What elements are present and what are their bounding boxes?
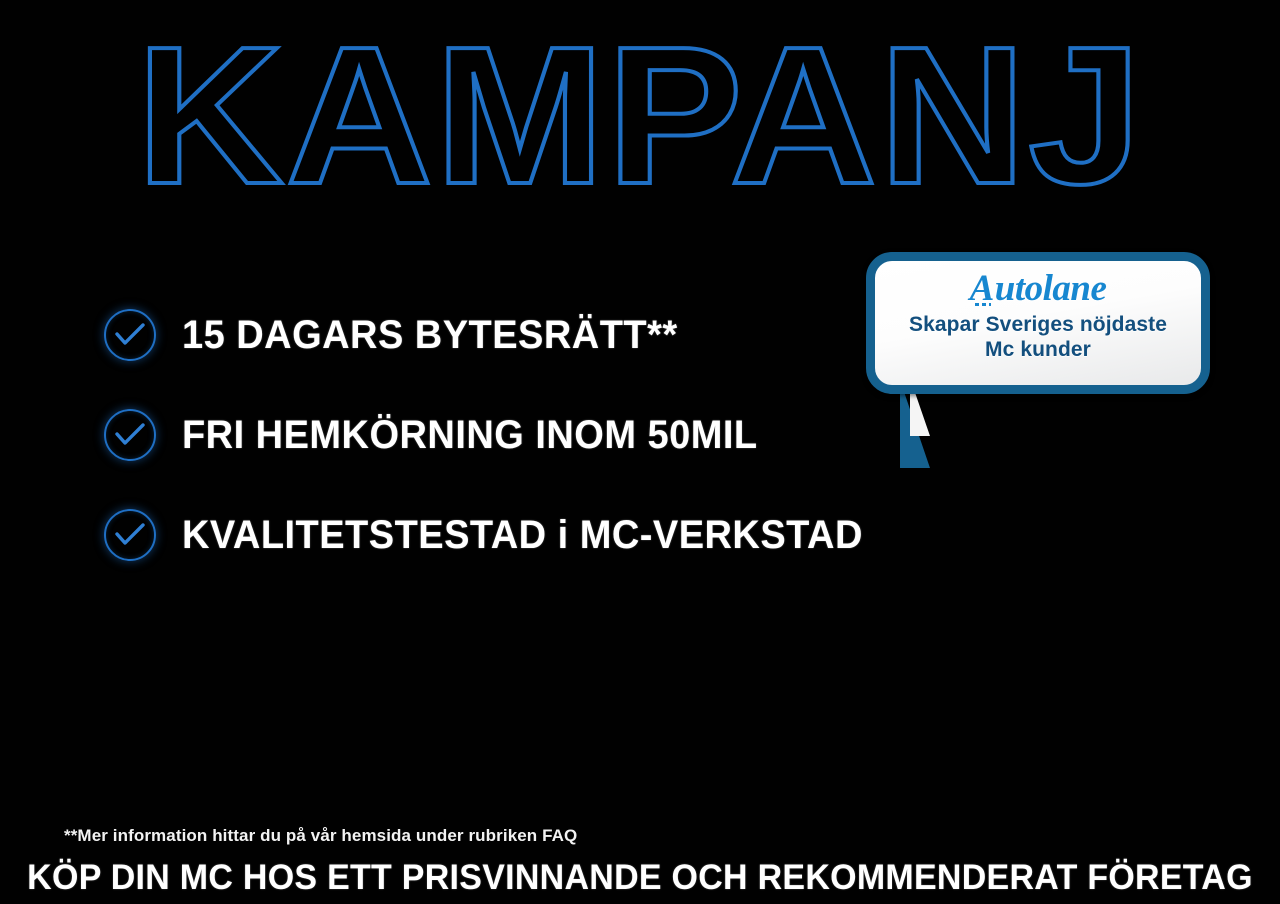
check-circle-icon bbox=[104, 509, 156, 561]
benefit-label: 15 DAGARS BYTESRÄTT** bbox=[182, 313, 678, 357]
check-circle-icon bbox=[104, 309, 156, 361]
autolane-speech-bubble: Autolane Skapar Sveriges nöjdaste Mc kun… bbox=[866, 252, 1210, 472]
benefit-label: KVALITETSTESTAD i MC-VERKSTAD bbox=[182, 513, 863, 557]
page-title: KAMPANJ bbox=[0, 18, 1280, 214]
list-item: FRI HEMKÖRNING INOM 50MIL bbox=[104, 385, 934, 485]
campaign-poster: KAMPANJ 15 DAGARS BYTESRÄTT** FRI HEMKÖR… bbox=[0, 0, 1280, 904]
autolane-tagline: Skapar Sveriges nöjdaste Mc kunder bbox=[909, 312, 1167, 362]
list-item: KVALITETSTESTAD i MC-VERKSTAD bbox=[104, 485, 934, 585]
tagline-line-1: Skapar Sveriges nöjdaste bbox=[909, 312, 1167, 337]
footnote-text: **Mer information hittar du på vår hemsi… bbox=[64, 826, 577, 846]
tagline-line-2: Mc kunder bbox=[909, 337, 1167, 362]
check-circle-icon bbox=[104, 409, 156, 461]
benefit-label: FRI HEMKÖRNING INOM 50MIL bbox=[182, 413, 758, 457]
autolane-logo-a: A bbox=[970, 268, 995, 309]
bubble-body: Autolane Skapar Sveriges nöjdaste Mc kun… bbox=[866, 252, 1210, 394]
benefits-list: 15 DAGARS BYTESRÄTT** FRI HEMKÖRNING INO… bbox=[104, 285, 934, 585]
list-item: 15 DAGARS BYTESRÄTT** bbox=[104, 285, 934, 385]
autolane-logo-rest: utolane bbox=[995, 268, 1107, 309]
autolane-logo: Autolane bbox=[970, 269, 1107, 309]
footer-tagline: KÖP DIN MC HOS ETT PRISVINNANDE OCH REKO… bbox=[19, 858, 1261, 898]
trust-badges: REKOMMENDERAT 6 ÅR I RAD reco Di MÄSTAR bbox=[0, 598, 1280, 818]
